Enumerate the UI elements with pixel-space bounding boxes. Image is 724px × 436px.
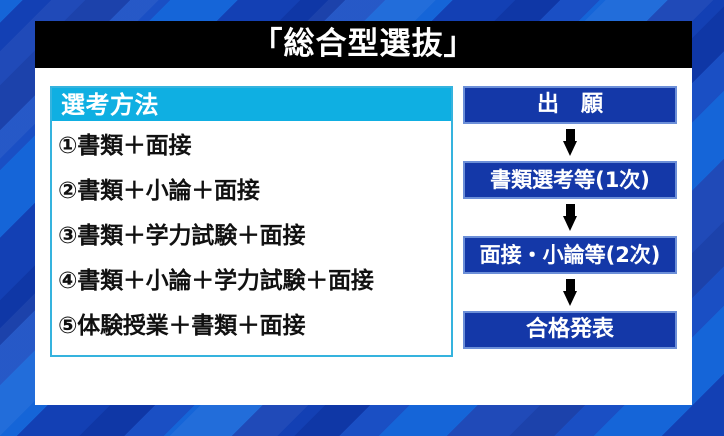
content-card: 選考方法 ①書類＋面接 ②書類＋小論＋面接 ③書類＋学力試験＋面接 ④書類＋小論… — [35, 68, 692, 405]
list-item: ③書類＋学力試験＋面接 — [58, 214, 451, 259]
list-item: ①書類＋面接 — [58, 124, 451, 169]
flow-step-interview-essay: 面接・小論等(2次) — [463, 236, 677, 274]
list-item: ④書類＋小論＋学力試験＋面接 — [58, 259, 451, 304]
flow-step-label: 面接・小論等(2次) — [480, 245, 661, 266]
flow-step-label: 合格発表 — [526, 319, 614, 341]
flow-step-document-screening: 書類選考等(1次) — [463, 161, 677, 199]
flow-arrow-1 — [463, 124, 677, 161]
infographic-canvas: 「総合型選抜」 選考方法 ①書類＋面接 ②書類＋小論＋面接 ③書類＋学力試験＋面… — [0, 0, 724, 436]
selection-methods-header: 選考方法 — [52, 88, 451, 121]
list-item: ⑤体験授業＋書類＋面接 — [58, 304, 451, 349]
admission-flow-chart: 出 願 書類選考等(1次) 面接・小論等(2次) — [463, 86, 677, 386]
selection-methods-header-label: 選考方法 — [61, 93, 159, 117]
flow-step-result-announcement: 合格発表 — [463, 311, 677, 349]
arrow-down-icon — [563, 129, 578, 156]
arrow-down-icon — [563, 204, 578, 231]
flow-arrow-2 — [463, 199, 677, 236]
flow-step-label: 出 願 — [537, 94, 603, 116]
flow-step-label: 書類選考等(1次) — [490, 170, 650, 191]
page-title: 「総合型選抜」 — [252, 29, 476, 60]
flow-step-application: 出 願 — [463, 86, 677, 124]
flow-arrow-3 — [463, 274, 677, 311]
title-banner: 「総合型選抜」 — [35, 21, 692, 68]
selection-methods-list: ①書類＋面接 ②書類＋小論＋面接 ③書類＋学力試験＋面接 ④書類＋小論＋学力試験… — [52, 121, 451, 349]
selection-methods-panel: 選考方法 ①書類＋面接 ②書類＋小論＋面接 ③書類＋学力試験＋面接 ④書類＋小論… — [50, 86, 453, 357]
arrow-down-icon — [563, 279, 578, 306]
list-item: ②書類＋小論＋面接 — [58, 169, 451, 214]
